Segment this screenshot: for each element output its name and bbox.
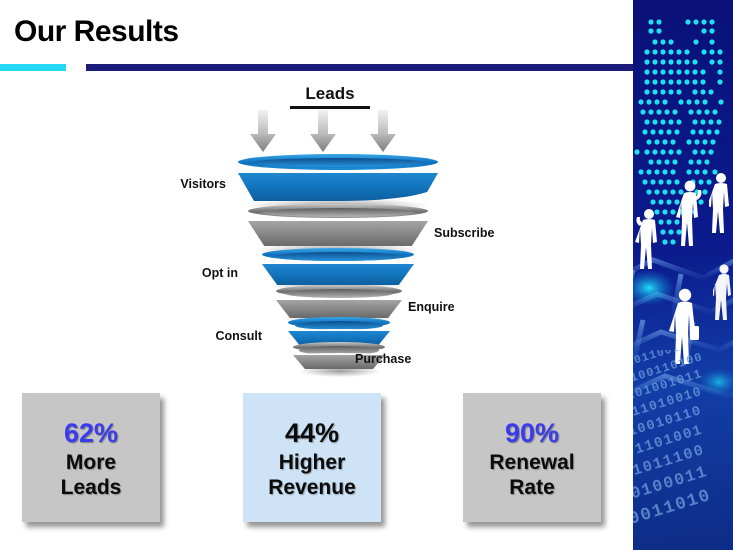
person-silhouette-icon [713,262,733,332]
ring-lip-inner [252,158,424,167]
ring-body [276,300,402,318]
stat-line-1: Renewal [489,450,574,475]
stat-line-2: Rate [509,475,555,500]
decorative-side-graphic: 1011001010 0100110100 1101001011 0011010… [633,0,733,550]
funnel-label-visitors: Visitors [180,177,226,191]
stat-line-1: Higher [279,450,346,475]
inflow-arrow-icon [250,110,276,152]
funnel-heading-underline [290,106,370,109]
stat-line-1: More [66,450,116,475]
funnel-diagram: Leads Visitors [150,80,510,365]
binary-digits-graphic: 1011001010 0100110100 1101001011 0011010… [633,350,733,550]
funnel-ring-visitors[interactable] [238,154,438,198]
ring-lip-inner [273,252,404,261]
stat-card-higher-revenue[interactable]: 44% Higher Revenue [243,393,381,522]
funnel-label-purchase: Purchase [355,352,411,366]
funnel-label-consult: Consult [215,329,262,343]
ring-lip-inner [261,208,416,217]
stat-card-renewal-rate[interactable]: 90% Renewal Rate [463,393,601,522]
page-title: Our Results [14,14,179,50]
funnel-label-enquire: Enquire [408,300,455,314]
funnel-ring-consult[interactable] [288,317,390,343]
funnel-ring-optin[interactable] [262,248,414,282]
ring-body [238,173,438,201]
stat-card-more-leads[interactable]: 62% More Leads [22,393,160,522]
funnel-label-optin: Opt in [202,266,238,280]
funnel-ring-enquire[interactable] [276,285,402,315]
stat-line-2: Revenue [268,475,356,500]
person-silhouette-icon [675,178,703,262]
ring-body [262,264,414,285]
accent-rule-cyan [0,64,66,71]
inflow-arrow-icon [370,110,396,152]
stat-percent: 90% [505,418,559,448]
funnel-ring-subscribe[interactable] [248,204,428,244]
person-silhouette-icon [709,170,733,248]
funnel-label-subscribe: Subscribe [434,226,494,240]
inflow-arrow-icon [310,110,336,152]
slide-canvas: Our Results Leads Visitors [0,0,733,550]
stat-percent: 62% [64,418,118,448]
person-silhouette-icon [635,206,661,284]
funnel-heading: Leads [150,84,510,104]
ring-body [248,221,428,246]
ring-lip-inner [285,289,393,298]
stat-percent: 44% [285,418,339,448]
accent-rule-navy [86,64,633,71]
stat-line-2: Leads [61,475,122,500]
